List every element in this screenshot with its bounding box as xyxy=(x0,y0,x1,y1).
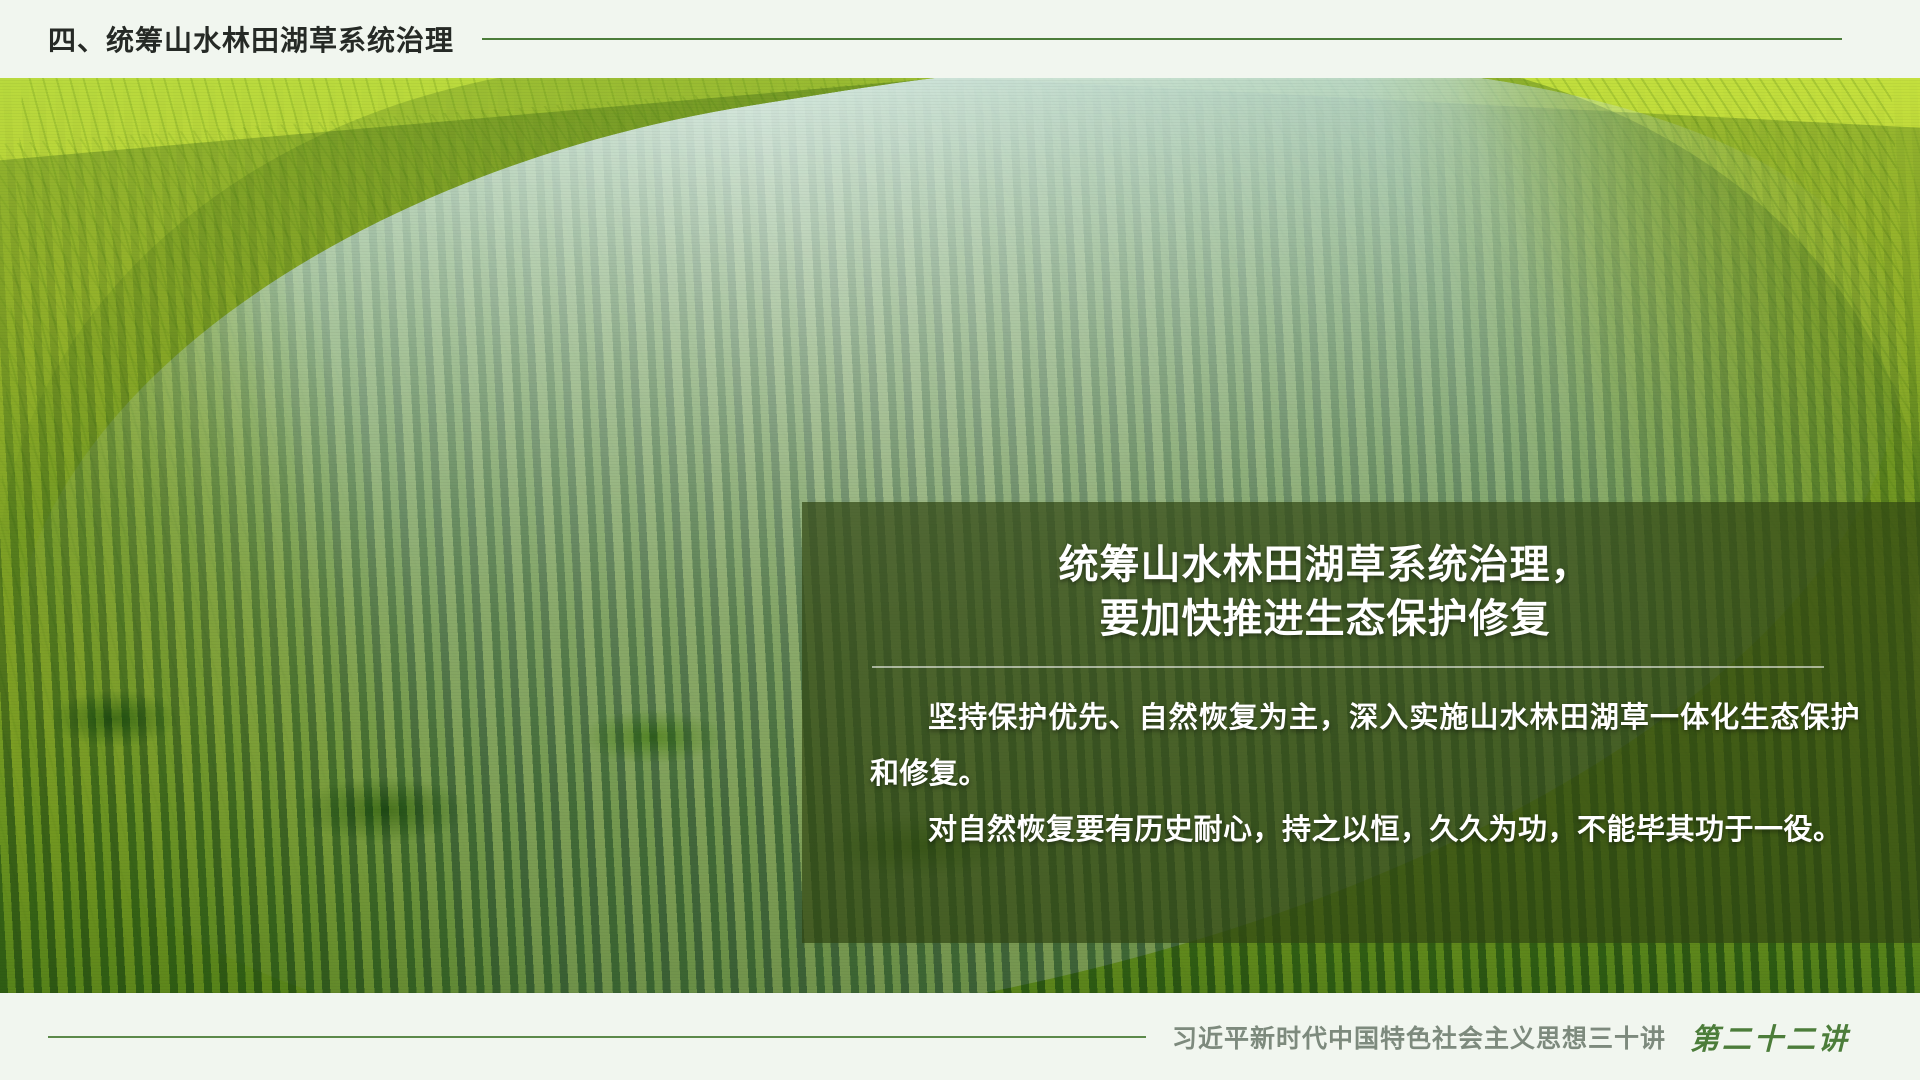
footer-divider-line xyxy=(48,1036,1146,1038)
quote-heading: 统筹山水林田湖草系统治理， 要加快推进生态保护修复 xyxy=(802,524,1858,646)
footer-book-title: 习近平新时代中国特色社会主义思想三十讲 xyxy=(1172,1019,1666,1055)
quote-divider-line xyxy=(872,666,1824,668)
quote-body: 坚持保护优先、自然恢复为主，深入实施山水林田湖草一体化生态保护和修复。 对自然恢… xyxy=(870,690,1860,858)
slide-root: 四、统筹山水林田湖草系统治理 统筹山水林田湖草系统治理， 要加快推进生态保护修复… xyxy=(0,0,1920,1080)
header-divider-line xyxy=(482,38,1842,40)
slide-header: 四、统筹山水林田湖草系统治理 xyxy=(0,0,1920,78)
quote-paragraph-1: 坚持保护优先、自然恢复为主，深入实施山水林田湖草一体化生态保护和修复。 xyxy=(870,690,1860,802)
quote-paragraph-2: 对自然恢复要有历史耐心，持之以恒，久久为功，不能毕其功于一役。 xyxy=(870,802,1860,858)
slide-footer: 习近平新时代中国特色社会主义思想三十讲 第二十二讲 xyxy=(0,993,1920,1080)
footer-lecture-number: 第二十二讲 xyxy=(1690,1016,1850,1058)
quote-heading-line-2: 要加快推进生态保护修复 xyxy=(852,592,1798,646)
page-title: 四、统筹山水林田湖草系统治理 xyxy=(48,19,454,59)
quote-overlay-panel: 统筹山水林田湖草系统治理， 要加快推进生态保护修复 坚持保护优先、自然恢复为主，… xyxy=(802,502,1920,943)
quote-heading-line-1: 统筹山水林田湖草系统治理， xyxy=(852,538,1798,592)
